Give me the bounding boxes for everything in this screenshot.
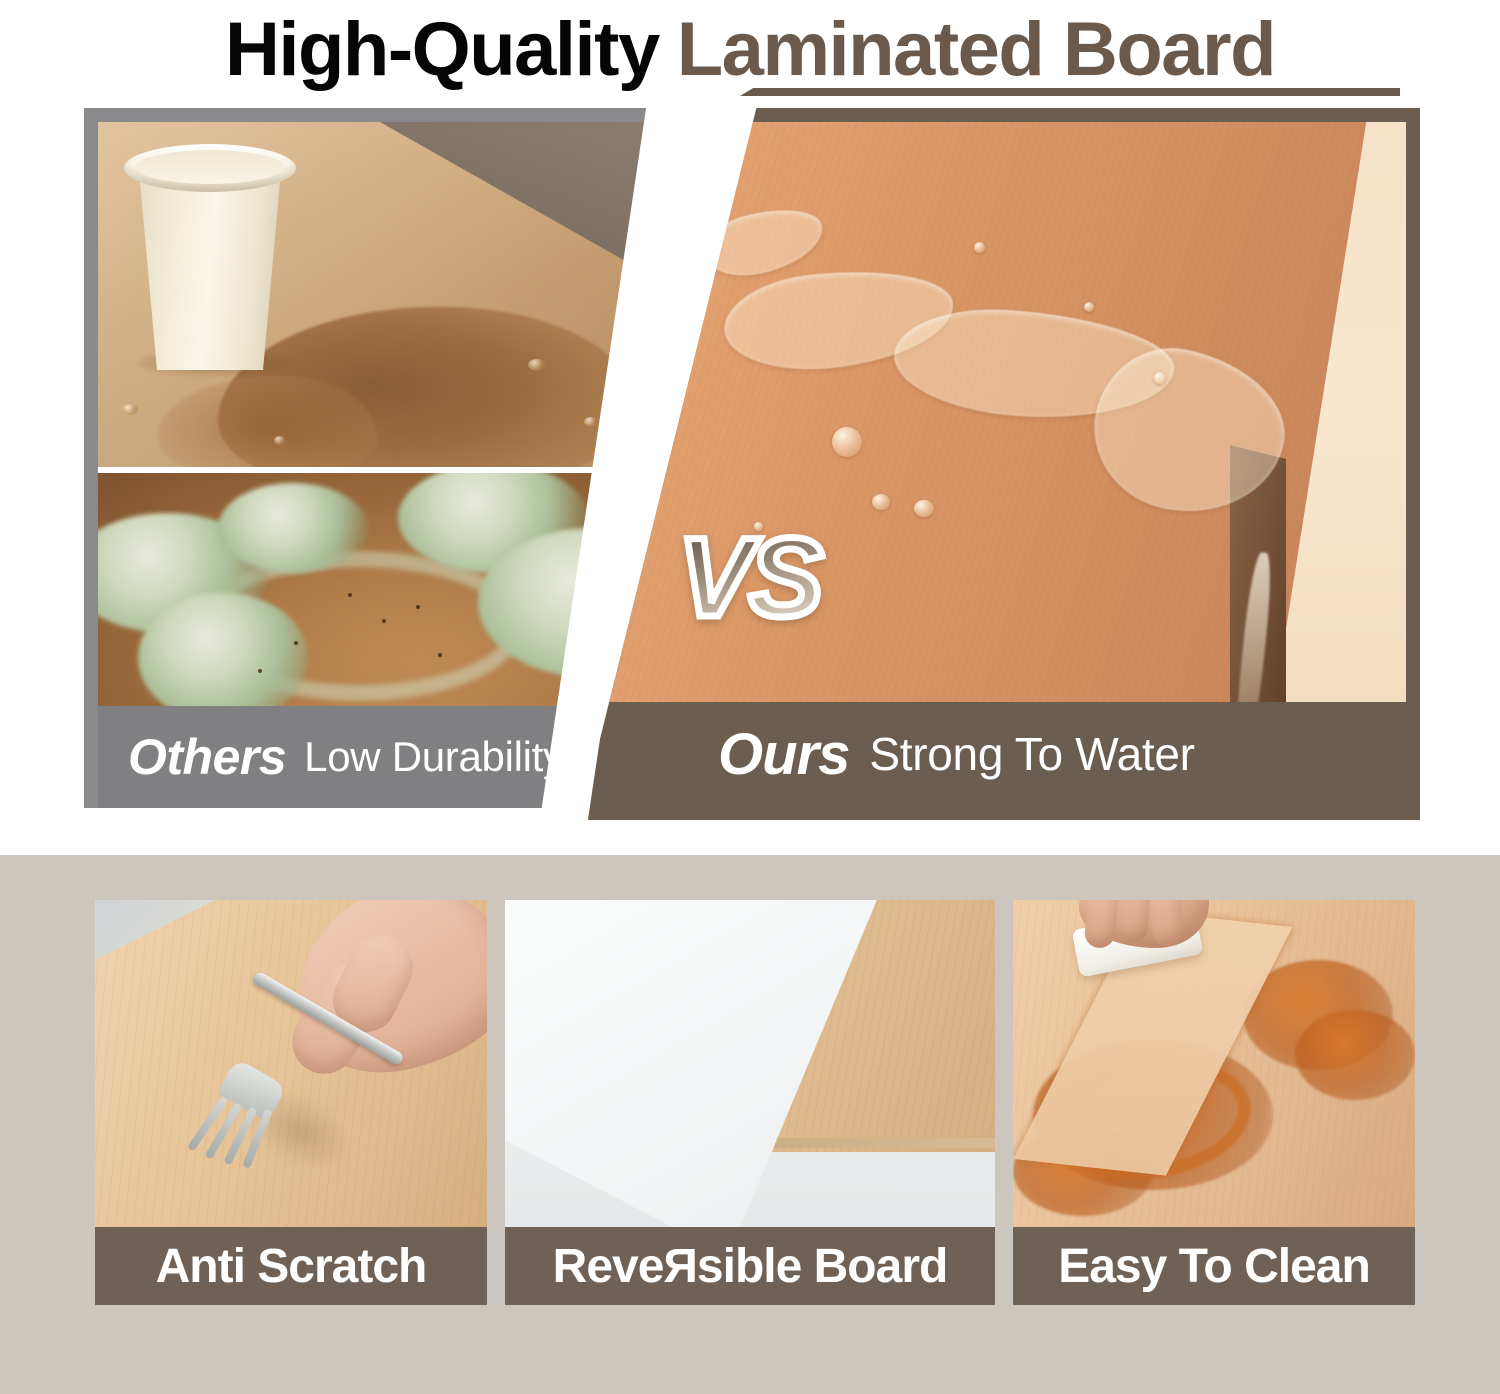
reversible-board-label-bar: ReveЯsible Board bbox=[505, 1227, 995, 1305]
others-title: Others bbox=[128, 728, 286, 786]
spill-droplet bbox=[528, 359, 546, 371]
mold-speck bbox=[348, 593, 352, 597]
spill-droplet bbox=[274, 436, 286, 445]
water-bead bbox=[832, 427, 862, 457]
water-bead bbox=[1084, 302, 1094, 312]
anti-scratch-label: Anti Scratch bbox=[156, 1239, 427, 1294]
vs-badge: VS bbox=[678, 522, 819, 634]
page-title: High-Quality Laminated Board bbox=[0, 0, 1500, 100]
ours-label-bar: Ours Strong To Water bbox=[594, 702, 1406, 806]
mold-speck bbox=[438, 653, 442, 657]
others-coffee-spill-photo bbox=[98, 122, 680, 467]
water-bead bbox=[974, 242, 985, 253]
water-bead bbox=[914, 500, 934, 517]
feature-card-reversible-board: ReveЯsible Board bbox=[505, 900, 995, 1305]
ours-subtitle: Strong To Water bbox=[869, 727, 1194, 781]
cup-body bbox=[132, 162, 288, 370]
easy-to-clean-label-bar: Easy To Clean bbox=[1013, 1227, 1415, 1305]
finger bbox=[1149, 900, 1183, 947]
title-underline-rule bbox=[740, 88, 1400, 96]
reversible-board-label: ReveЯsible Board bbox=[553, 1239, 948, 1294]
spill-droplet bbox=[122, 404, 138, 415]
water-bead bbox=[1154, 372, 1166, 384]
spill-droplet bbox=[584, 417, 598, 427]
mold-patch bbox=[138, 593, 308, 715]
water-bead bbox=[872, 494, 890, 510]
mold-speck bbox=[258, 669, 262, 673]
others-subtitle: Low Durability bbox=[304, 733, 564, 781]
page-title-brown-part: Laminated Board bbox=[677, 12, 1275, 88]
mold-speck bbox=[416, 605, 420, 609]
page-title-dark-part: High-Quality bbox=[225, 12, 659, 88]
easy-to-clean-label: Easy To Clean bbox=[1058, 1239, 1370, 1294]
mold-speck bbox=[382, 619, 386, 623]
cup-inner bbox=[136, 150, 284, 184]
features-section: Anti Scratch ReveЯsible Board bbox=[0, 855, 1500, 1394]
sauce-stain bbox=[1295, 1010, 1415, 1100]
feature-card-easy-to-clean: Easy To Clean bbox=[1013, 900, 1415, 1305]
easy-to-clean-photo bbox=[1013, 900, 1415, 1227]
mold-speck bbox=[294, 641, 298, 645]
feature-card-anti-scratch: Anti Scratch bbox=[95, 900, 487, 1305]
mold-patch bbox=[218, 483, 368, 573]
paper-cup bbox=[124, 140, 296, 370]
feature-card-row: Anti Scratch ReveЯsible Board bbox=[95, 900, 1415, 1305]
reversible-board-photo bbox=[505, 900, 995, 1227]
anti-scratch-label-bar: Anti Scratch bbox=[95, 1227, 487, 1305]
ours-panel: Ours Strong To Water bbox=[580, 108, 1420, 820]
anti-scratch-photo bbox=[95, 900, 487, 1227]
ours-title: Ours bbox=[718, 721, 849, 788]
comparison-section: Others Low Durability Ours Strong To bbox=[84, 108, 1420, 820]
